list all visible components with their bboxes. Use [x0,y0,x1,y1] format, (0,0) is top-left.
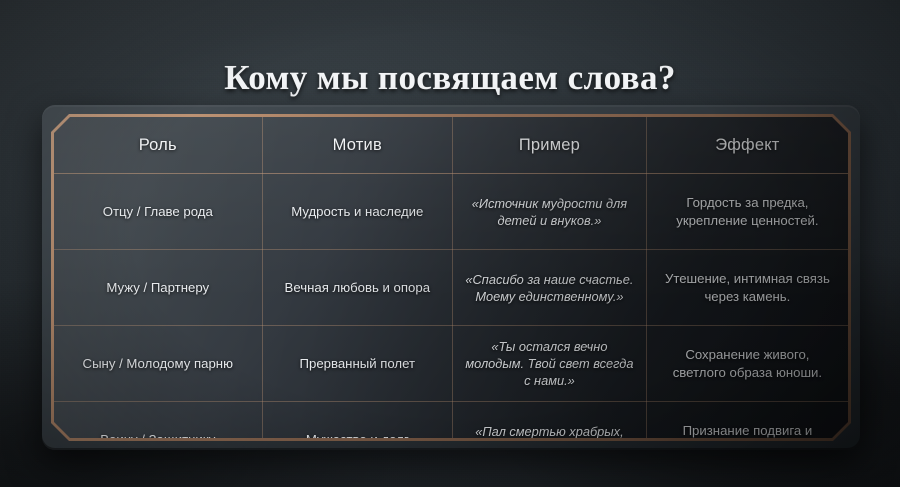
table-row: Отцу / Главе рода Мудрость и наследие «И… [54,174,848,250]
cell-motive: Мудрость и наследие [262,174,453,250]
cell-role: Сыну / Молодому парню [54,326,262,402]
table-row: Воину / Защитнику Мужество и долг «Пал с… [54,402,848,439]
slide-stage: Кому мы посвящаем слова? Роль Мотив [0,0,900,487]
cell-effect: Сохранение живого, светлого образа юноши… [646,326,848,402]
table-header-row: Роль Мотив Пример Эффект [54,117,848,174]
cell-motive: Вечная любовь и опора [262,250,453,326]
page-title: Кому мы посвящаем слова? [0,57,900,99]
cell-example: «Спасибо за наше счастье. Моему единстве… [453,250,647,326]
cell-role: Мужу / Партнеру [54,250,262,326]
column-header-motive: Мотив [262,117,453,174]
column-header-effect: Эффект [646,117,848,174]
cell-effect: Гордость за предка, укрепление ценностей… [646,174,848,250]
cell-example: «Пал смертью храбрых, защищая родную зем… [453,402,647,439]
cell-role: Воину / Защитнику [54,402,262,439]
table-body: Отцу / Главе рода Мудрость и наследие «И… [54,174,848,439]
cell-example: «Источник мудрости для детей и внуков.» [453,174,647,250]
decorative-copper-frame: Роль Мотив Пример Эффект Отцу / Главе ро… [51,114,851,441]
frame-inner-surface: Роль Мотив Пример Эффект Отцу / Главе ро… [54,117,848,438]
dedication-table: Роль Мотив Пример Эффект Отцу / Главе ро… [54,117,848,438]
table-header: Роль Мотив Пример Эффект [54,117,848,174]
table-plaque: Роль Мотив Пример Эффект Отцу / Главе ро… [42,105,860,450]
cell-motive: Прерванный полет [262,326,453,402]
cell-role: Отцу / Главе рода [54,174,262,250]
cell-effect: Утешение, интимная связь через камень. [646,250,848,326]
column-header-role: Роль [54,117,262,174]
cell-example: «Ты остался вечно молодым. Твой свет все… [453,326,647,402]
table-row: Сыну / Молодому парню Прерванный полет «… [54,326,848,402]
cell-motive: Мужество и долг [262,402,453,439]
cell-effect: Признание подвига и статуса воина света. [646,402,848,439]
table-row: Мужу / Партнеру Вечная любовь и опора «С… [54,250,848,326]
column-header-example: Пример [453,117,647,174]
